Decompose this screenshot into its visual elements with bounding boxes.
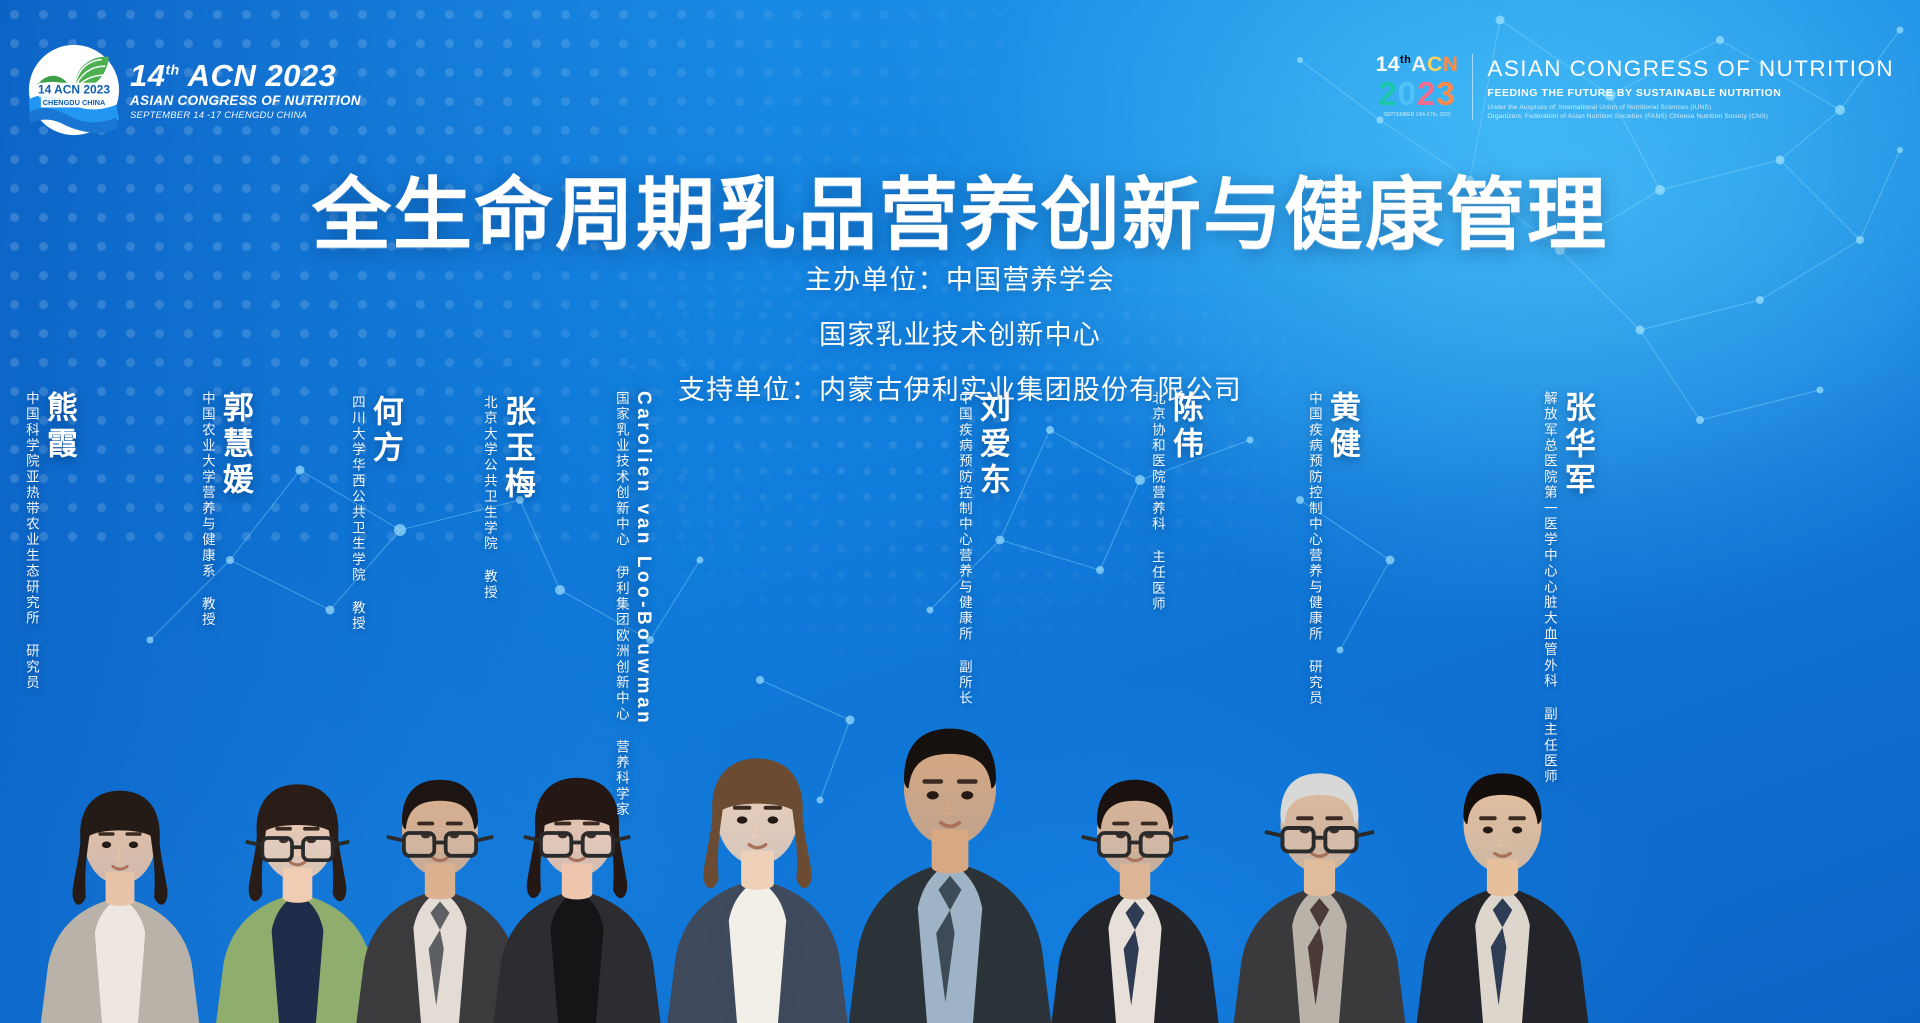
speaker-card <box>835 663 1065 1023</box>
acn-emblem-icon: 14 ACN 2023 CHENGDU CHINA <box>28 44 120 136</box>
svg-text:14 ACN 2023: 14 ACN 2023 <box>38 83 110 97</box>
speaker-card <box>30 723 210 1023</box>
speaker-name: 张玉梅 <box>502 395 533 503</box>
organizer-line-2: 国家乳业技术创新中心 <box>0 313 1920 352</box>
speaker-card <box>655 693 860 1023</box>
speaker-photo <box>1222 713 1417 1023</box>
speaker-affiliation: 中国农业大学营养与健康系 教授 <box>198 391 215 628</box>
speaker-photo <box>1040 703 1230 1023</box>
acn-logo-right-acn: 14thACN <box>1376 54 1459 75</box>
speaker-photo <box>30 723 210 1023</box>
speaker-affiliation: 国家乳业技术创新中心 伊利集团欧洲创新中心 营养科学家 <box>612 391 629 721</box>
speaker-name: 陈伟 <box>1170 391 1201 463</box>
acn-organizers-line: Organizers: Federation of Asian Nutritio… <box>1487 113 1894 120</box>
acn-logo-left-line3: SEPTEMBER 14 -17 CHENGDU CHINA <box>130 111 361 121</box>
acn-logo-right-body: ASIAN CONGRESS OF NUTRITION FEEDING THE … <box>1487 52 1894 120</box>
speaker-affiliation: 中国科学院亚热带农业生态研究所 研究员 <box>22 391 39 691</box>
acn-logo-right-year: 2023 <box>1376 77 1459 110</box>
speaker-affiliation: 中国疾病预防控制中心营养与健康所 研究员 <box>1305 391 1322 707</box>
speaker-card <box>1040 703 1230 1023</box>
acn-logo-left-line2: ASIAN CONGRESS OF NUTRITION <box>130 94 361 108</box>
speaker-label: 张华军解放军总医院第一医学中心心脏大血管外科 副主任医师 <box>1540 391 1593 721</box>
speaker-row: 熊霞中国科学院亚热带农业生态研究所 研究员 <box>0 383 1920 1023</box>
speaker-photo <box>835 663 1065 1023</box>
poster-stage: 14 ACN 2023 CHENGDU CHINA 14th ACN 2023 … <box>0 0 1920 1023</box>
speaker-label: Carolien van Loo-Bouwman国家乳业技术创新中心 伊利集团欧… <box>612 391 653 726</box>
speaker-name: 黄健 <box>1327 391 1358 463</box>
speaker-name: Carolien van Loo-Bouwman <box>634 391 653 726</box>
speaker-affiliation: 解放军总医院第一医学中心心脏大血管外科 副主任医师 <box>1540 391 1557 721</box>
acn-logo-left-line1: 14th ACN 2023 <box>130 60 361 91</box>
speaker-affiliation: 中国疾病预防控制中心营养与健康所 副所长 <box>955 391 972 707</box>
acn-congress-title: ASIAN CONGRESS OF NUTRITION <box>1487 56 1894 82</box>
logo-divider <box>1472 54 1473 120</box>
speaker-affiliation: 北京协和医院营养科 主任医师 <box>1148 391 1165 612</box>
speaker-name: 何方 <box>370 395 401 467</box>
speaker-photo <box>1405 713 1600 1023</box>
speaker-label: 何方四川大学华西公共卫生学院 教授 <box>348 395 401 632</box>
acn-logo-left-text: 14th ACN 2023 ASIAN CONGRESS OF NUTRITIO… <box>130 60 361 120</box>
acn-auspices-line: Under the Auspices of: International Uni… <box>1487 104 1894 111</box>
speaker-label: 郭慧媛中国农业大学营养与健康系 教授 <box>198 391 251 628</box>
speaker-label: 熊霞中国科学院亚热带农业生态研究所 研究员 <box>22 391 75 691</box>
speaker-name: 刘爱东 <box>977 391 1008 499</box>
svg-text:CHENGDU CHINA: CHENGDU CHINA <box>43 98 106 107</box>
speaker-name: 郭慧媛 <box>220 391 251 499</box>
acn-logo-right-date: SEPTEMBER 14th-17th, 2023 <box>1376 113 1459 118</box>
acn-congress-tagline: FEEDING THE FUTURE BY SUSTAINABLE NUTRIT… <box>1487 87 1894 99</box>
speaker-card <box>1222 713 1417 1023</box>
speaker-affiliation: 北京大学公共卫生学院 教授 <box>480 395 497 601</box>
organizer-line-1: 主办单位：中国营养学会 <box>0 258 1920 297</box>
speaker-label: 黄健中国疾病预防控制中心营养与健康所 研究员 <box>1305 391 1358 707</box>
acn-logo-right: 14thACN 2023 SEPTEMBER 14th-17th, 2023 A… <box>1376 52 1894 120</box>
speaker-name: 张华军 <box>1562 391 1593 499</box>
poster-title: 全生命周期乳品营养创新与健康管理 <box>0 150 1920 265</box>
speaker-label: 刘爱东中国疾病预防控制中心营养与健康所 副所长 <box>955 391 1008 707</box>
speaker-photo <box>482 703 672 1023</box>
speaker-card <box>1405 713 1600 1023</box>
acn-logo-right-mark: 14thACN 2023 SEPTEMBER 14th-17th, 2023 <box>1376 52 1459 118</box>
speaker-photo <box>655 693 860 1023</box>
acn-logo-left: 14 ACN 2023 CHENGDU CHINA 14th ACN 2023 … <box>28 44 361 136</box>
speaker-name: 熊霞 <box>44 391 75 463</box>
speaker-label: 张玉梅北京大学公共卫生学院 教授 <box>480 395 533 601</box>
speaker-affiliation: 四川大学华西公共卫生学院 教授 <box>348 395 365 632</box>
speaker-card <box>482 703 672 1023</box>
speaker-label: 陈伟北京协和医院营养科 主任医师 <box>1148 391 1201 612</box>
